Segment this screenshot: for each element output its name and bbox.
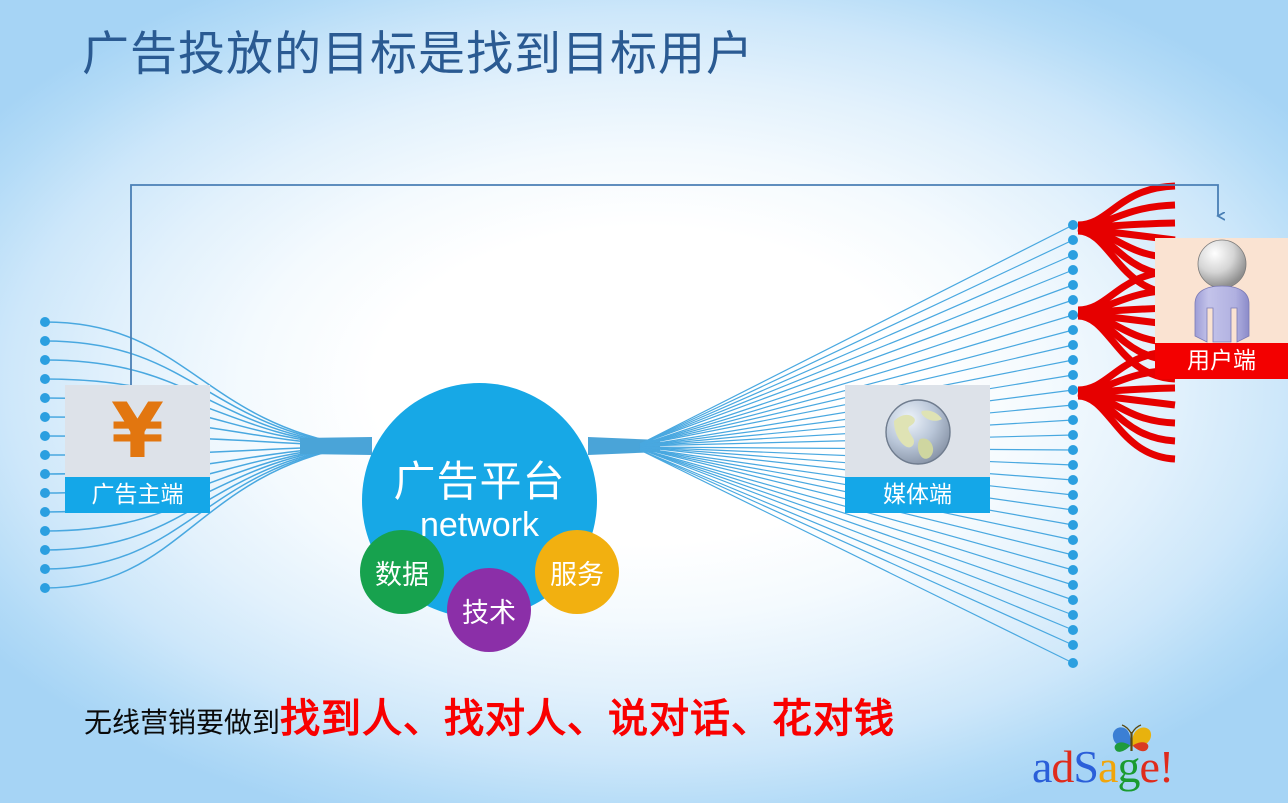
media-caption: 媒体端	[845, 477, 990, 513]
left-fan-dots	[40, 317, 50, 593]
user-caption: 用户端	[1155, 343, 1288, 379]
user-node[interactable]: 用户端	[1155, 238, 1288, 379]
left-flow-band	[300, 437, 372, 455]
slide-canvas: 广告投放的目标是找到目标用户	[0, 0, 1288, 803]
logo-wordmark: adSage!	[1032, 742, 1173, 792]
adsage-logo[interactable]: adSage!	[1032, 726, 1222, 792]
pillar-label-tech: 技术	[462, 591, 516, 630]
logo-letter-bang: !	[1159, 741, 1173, 792]
right-fan-dots	[1068, 220, 1078, 668]
person-icon	[1181, 238, 1263, 343]
globe-icon	[880, 393, 956, 469]
platform-title-en: network	[420, 506, 539, 544]
yen-currency-icon: ¥	[111, 393, 164, 469]
logo-letter-e: e	[1139, 741, 1158, 792]
footer-tagline: 无线营销要做到找到人、找对人、说对话、花对钱	[84, 686, 895, 744]
pillar-circle-tech[interactable]: 技术	[447, 568, 531, 652]
logo-letter-d: d	[1051, 741, 1073, 792]
footer-highlight-text: 找到人、找对人、说对话、花对钱	[280, 696, 895, 742]
logo-letter-a2: a	[1098, 741, 1117, 792]
pillar-label-service: 服务	[550, 553, 604, 592]
pillar-circle-data[interactable]: 数据	[360, 530, 444, 614]
advertiser-icon-panel: ¥	[65, 385, 210, 477]
media-icon-panel	[845, 385, 990, 477]
footer-lead-text: 无线营销要做到	[84, 706, 280, 739]
media-node[interactable]: 媒体端	[845, 385, 990, 513]
advertiser-caption: 广告主端	[65, 477, 210, 513]
logo-letter-g: g	[1117, 741, 1139, 792]
logo-letter-S: S	[1073, 741, 1098, 792]
pillar-circle-service[interactable]: 服务	[535, 530, 619, 614]
feedback-arrow	[131, 185, 1218, 385]
platform-title-cn: 广告平台	[393, 458, 565, 506]
advertiser-node[interactable]: ¥ 广告主端	[65, 385, 210, 513]
pillar-label-data: 数据	[375, 553, 429, 592]
logo-letter-a1: a	[1032, 741, 1051, 792]
user-icon-panel	[1155, 238, 1288, 343]
